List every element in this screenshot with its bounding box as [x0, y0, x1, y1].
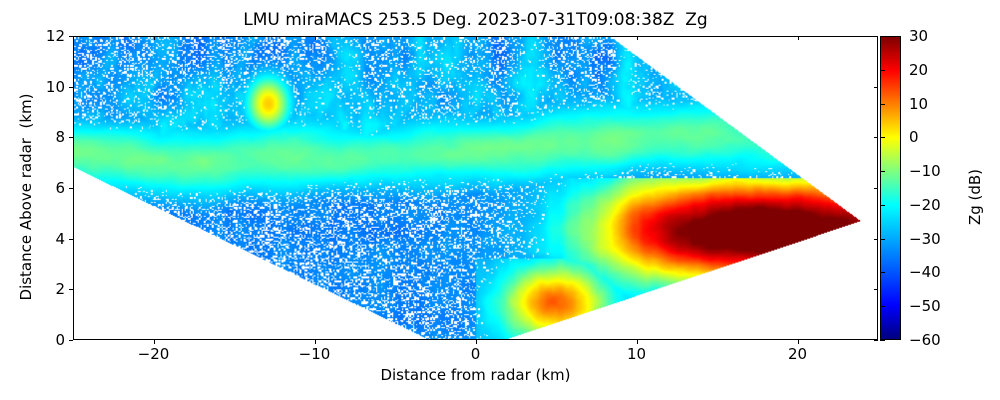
colorbar-tick — [880, 171, 885, 172]
y-axis-label: Distance Above radar (km) — [17, 67, 35, 327]
page-title: LMU miraMACS 253.5 Deg. 2023-07-31T09:08… — [73, 10, 878, 30]
y-tick-right — [874, 137, 878, 138]
x-tick — [315, 340, 316, 344]
y-tick — [69, 340, 73, 341]
x-tick-top — [154, 36, 155, 40]
y-tick-right — [874, 340, 878, 341]
colorbar-tick — [880, 70, 885, 71]
y-tick — [69, 239, 73, 240]
colorbar-tick — [880, 239, 885, 240]
colorbar-tick — [880, 36, 885, 37]
colorbar — [880, 36, 901, 340]
x-tick-label: −20 — [138, 345, 170, 363]
colorbar-tick — [880, 340, 885, 341]
x-tick-label: 0 — [471, 345, 481, 363]
x-tick — [476, 340, 477, 344]
x-tick-label: 20 — [788, 345, 807, 363]
colorbar-tick — [880, 205, 885, 206]
x-tick — [154, 340, 155, 344]
colorbar-tick-label: 0 — [909, 128, 919, 146]
x-axis-label: Distance from radar (km) — [73, 366, 878, 384]
y-tick — [69, 36, 73, 37]
x-tick — [637, 340, 638, 344]
colorbar-tick-label: 30 — [909, 27, 928, 45]
y-tick — [69, 137, 73, 138]
x-tick-top — [476, 36, 477, 40]
colorbar-tick — [880, 306, 885, 307]
x-tick-label: 10 — [627, 345, 646, 363]
colorbar-tick-label: 20 — [909, 61, 928, 79]
colorbar-tick-label: −40 — [909, 263, 941, 281]
colorbar-tick-label: −50 — [909, 297, 941, 315]
x-tick-top — [315, 36, 316, 40]
colorbar-tick — [880, 104, 885, 105]
plot-axes — [73, 36, 878, 340]
y-tick — [69, 289, 73, 290]
colorbar-tick-label: −10 — [909, 162, 941, 180]
y-tick-right — [874, 36, 878, 37]
colorbar-tick-label: −30 — [909, 230, 941, 248]
y-tick-right — [874, 188, 878, 189]
colorbar-tick — [880, 137, 885, 138]
y-tick-label: 12 — [0, 27, 65, 45]
reflectivity-heatmap — [74, 37, 877, 339]
colorbar-tick-label: −60 — [909, 331, 941, 349]
colorbar-tick — [880, 272, 885, 273]
x-tick-top — [798, 36, 799, 40]
x-tick — [798, 340, 799, 344]
y-tick — [69, 87, 73, 88]
y-tick-right — [874, 289, 878, 290]
radar-rhi-figure: LMU miraMACS 253.5 Deg. 2023-07-31T09:08… — [0, 0, 1000, 400]
y-tick-label: 0 — [0, 331, 65, 349]
y-tick-right — [874, 87, 878, 88]
y-tick-right — [874, 239, 878, 240]
x-tick-top — [637, 36, 638, 40]
colorbar-tick-label: 10 — [909, 95, 928, 113]
colorbar-tick-label: −20 — [909, 196, 941, 214]
colorbar-label: Zg (dB) — [966, 87, 984, 307]
x-tick-label: −10 — [299, 345, 331, 363]
y-tick — [69, 188, 73, 189]
